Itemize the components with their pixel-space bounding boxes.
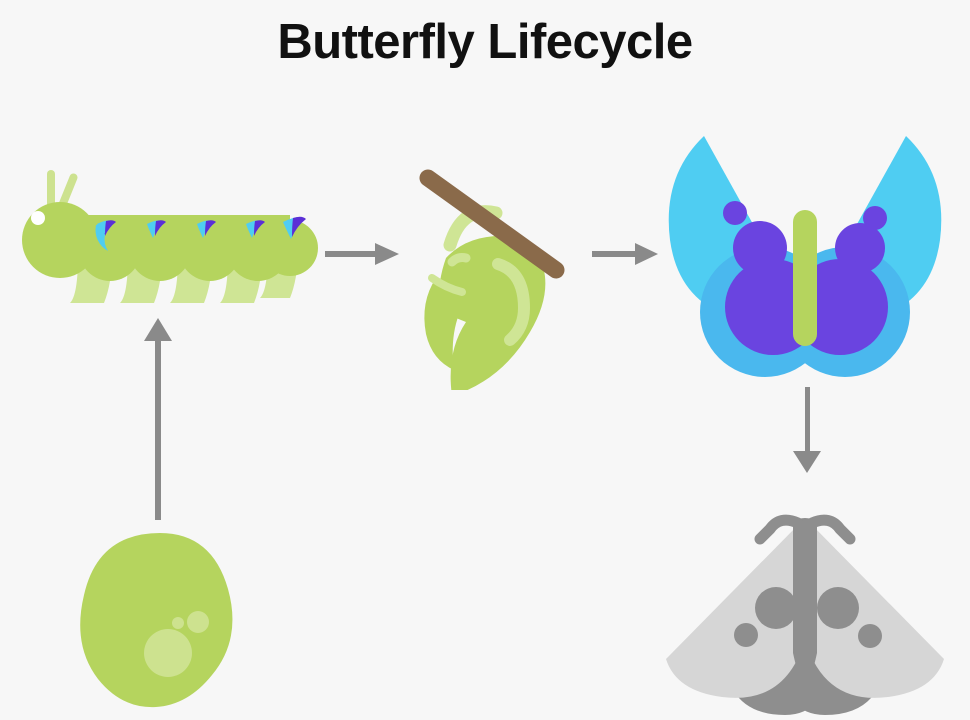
diagram-canvas: Butterfly Lifecycle bbox=[0, 0, 970, 716]
stage-moth[interactable] bbox=[650, 495, 960, 720]
arrow-down bbox=[790, 385, 826, 480]
caterpillar-illustration bbox=[0, 0, 320, 320]
egg-shape bbox=[80, 533, 232, 707]
arrow-up-icon bbox=[140, 315, 176, 520]
arrow-up bbox=[140, 315, 176, 520]
moth-body bbox=[793, 518, 817, 687]
stage-caterpillar[interactable] bbox=[0, 0, 320, 320]
chrysalis-illustration bbox=[380, 150, 590, 390]
egg-illustration bbox=[75, 525, 245, 720]
arrow-down-icon bbox=[790, 385, 826, 480]
stage-egg[interactable] bbox=[75, 525, 245, 720]
stage-butterfly[interactable] bbox=[660, 120, 950, 390]
butterfly-body bbox=[793, 210, 817, 346]
caterpillar-eye bbox=[31, 211, 45, 225]
stage-chrysalis[interactable] bbox=[380, 150, 590, 390]
moth-illustration bbox=[650, 495, 960, 720]
caterpillar-body bbox=[22, 202, 318, 281]
butterfly-illustration bbox=[660, 120, 950, 390]
